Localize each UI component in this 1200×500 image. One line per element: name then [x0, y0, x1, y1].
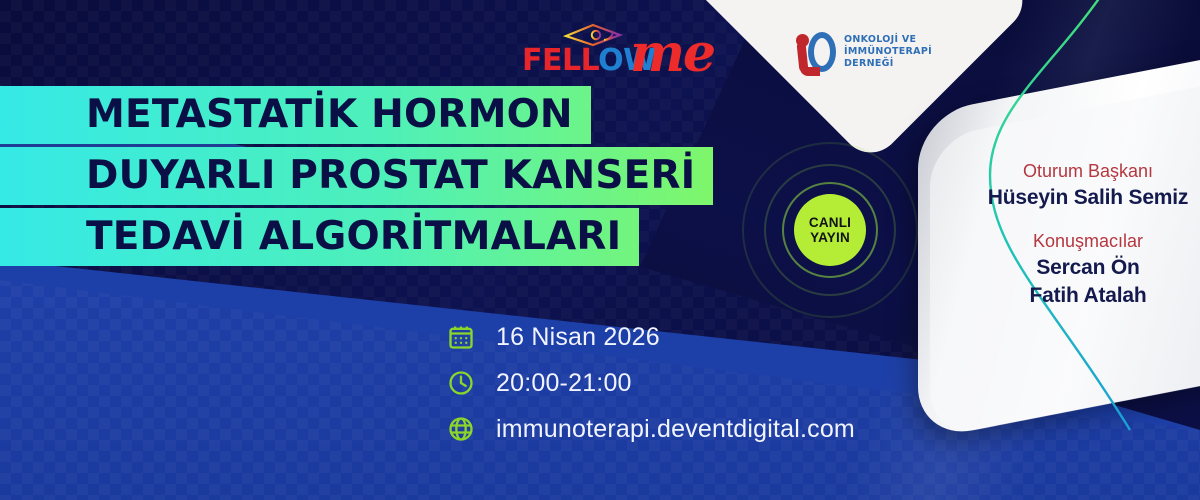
event-title: METASTATİK HORMON DUYARLI PROSTAT KANSER… — [0, 86, 620, 269]
speaker-panel-text: Oturum Başkanı Hüseyin Salih Semiz Konuş… — [980, 160, 1196, 310]
event-info-list: 16 Nisan 2026 20:00-21:00 immunoterapi.d… — [446, 314, 855, 452]
live-broadcast-badge: CANLI YAYIN — [742, 142, 918, 318]
speaker-name-2: Fatih Atalah — [980, 282, 1196, 310]
event-banner: ONKOLOJİ VE İMMÜNOTERAPİ DERNEĞİ FELLOW … — [0, 0, 1200, 500]
association-line-3: DERNEĞİ — [844, 58, 932, 70]
association-line-1: ONKOLOJİ VE — [844, 34, 932, 46]
title-line-3: TEDAVİ ALGORİTMALARI — [0, 208, 639, 266]
title-line-2: DUYARLI PROSTAT KANSERİ — [0, 147, 713, 205]
chair-name: Hüseyin Salih Semiz — [980, 184, 1196, 212]
event-time-text: 20:00-21:00 — [496, 369, 632, 398]
speaker-name-1: Sercan Ön — [980, 254, 1196, 282]
live-badge-core: CANLI YAYIN — [794, 194, 866, 266]
fellowme-part-3: me — [630, 28, 714, 80]
association-logo-text: ONKOLOJİ VE İMMÜNOTERAPİ DERNEĞİ — [844, 34, 932, 70]
association-logo: ONKOLOJİ VE İMMÜNOTERAPİ DERNEĞİ — [796, 24, 946, 80]
clock-icon — [446, 368, 476, 398]
live-badge-line-2: YAYIN — [810, 230, 850, 245]
association-line-2: İMMÜNOTERAPİ — [844, 46, 932, 58]
speakers-role-label: Konuşmacılar — [980, 230, 1196, 254]
globe-icon — [446, 414, 476, 444]
event-website-text[interactable]: immunoterapi.deventdigital.com — [496, 415, 855, 444]
title-line-1: METASTATİK HORMON — [0, 86, 591, 144]
event-date-row: 16 Nisan 2026 — [446, 314, 855, 360]
chair-role-label: Oturum Başkanı — [980, 160, 1196, 184]
fellowme-logo: FELLOW me — [522, 22, 712, 88]
fellowme-part-1: FELL — [522, 43, 598, 78]
event-website-row[interactable]: immunoterapi.deventdigital.com — [446, 406, 855, 452]
live-badge-line-1: CANLI — [809, 215, 851, 230]
io-monogram-icon — [796, 28, 838, 76]
calendar-icon — [446, 322, 476, 352]
event-time-row: 20:00-21:00 — [446, 360, 855, 406]
event-date-text: 16 Nisan 2026 — [496, 323, 660, 352]
